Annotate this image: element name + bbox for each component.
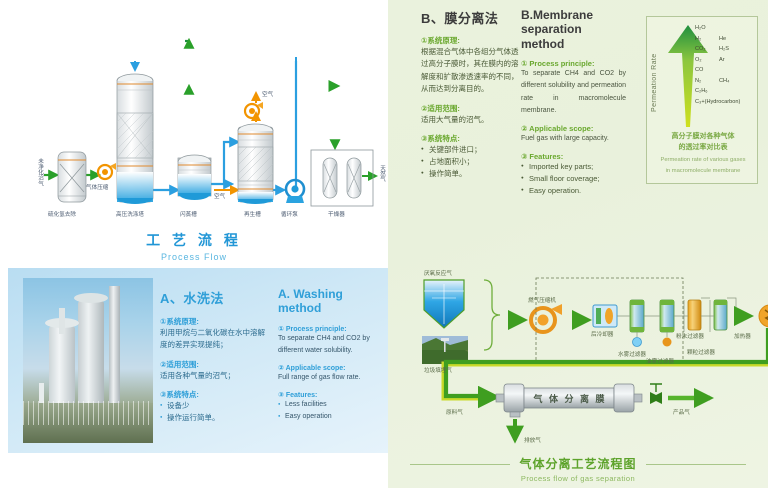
washing-s2-title-cn: ②适用范围: [160, 359, 268, 370]
label-powder-filter: 粉末过滤器 [676, 332, 704, 340]
label-natural-gas: 天然气 [378, 165, 386, 182]
membrane-s2-title-cn: ②适用范围: [421, 103, 519, 114]
label-product-gas: 产品气 [673, 408, 690, 416]
gas-name: N₂ [695, 78, 701, 84]
plant-photo [23, 278, 153, 443]
washing-s3-item: 操作运行简单。 [160, 412, 268, 424]
washing-s3-title-en: ③ Features: [278, 391, 384, 399]
label-h2s-removal: 硫化氢去除 [48, 210, 76, 218]
photo-fence [23, 401, 153, 425]
washing-s2-body-cn: 适用各种气量的沼气； [160, 370, 268, 382]
washing-s2-title-en: ② Applicable scope: [278, 364, 384, 372]
label-vent-gas: 排放气 [524, 436, 541, 444]
washing-s3-item-en: Less facilities [278, 399, 384, 411]
membrane-s3-title-en: ③ Features: [521, 152, 626, 161]
permeation-rate-box: Permeation Rate H₂O H₂He CO₂H₂S O₂Ar CO … [646, 16, 758, 184]
label-regen-tank: 再生槽 [244, 210, 261, 218]
gas-separation-svg [388, 258, 768, 458]
membrane-s1-body-cn: 根据混合气体中各组分气体透过高分子膜时，其在膜内的溶解度和扩散渗透速率的不同，从… [421, 46, 519, 96]
washing-s3-item: 设备少 [160, 400, 268, 412]
membrane-s3-item-cn: 占地面积小； [421, 156, 519, 168]
label-gas-compressor: 燃气压缩机 [528, 296, 556, 304]
label-feed-gas: 原料气 [446, 408, 463, 416]
label-air-inlet: 空气 [214, 192, 225, 200]
washing-chinese-block: A、水洗法 ①系统原理: 利用甲烷与二氧化碳在水中溶解度的差异实现提纯； ②适用… [160, 288, 268, 424]
membrane-s3-item-cn: 关键部件进口； [421, 144, 519, 156]
membrane-s1-title-cn: ①系统原理: [421, 35, 519, 46]
membrane-s1-body-en: To separate CH4 and CO2 by different sol… [521, 68, 626, 117]
permeation-caption: 高分子膜对各种气体 的透过率对比表 Permeation rate of var… [647, 132, 759, 176]
membrane-s2-title-en: ② Applicable scope: [521, 124, 626, 133]
left-column: 未净化沼气 硫化氢去除 气体压缩 高压洗涤塔 闪蒸槽 空气 空气 再生槽 循环泵… [0, 0, 388, 488]
gas-row: C₂H₆ [695, 88, 757, 99]
membrane-s3-item-en: Easy operation. [521, 185, 626, 197]
process-flow-title-en: Process Flow [0, 252, 388, 262]
gas-row: CO₂H₂S [695, 46, 757, 57]
gas-separation-title-cn: 气体分离工艺流程图 [388, 455, 768, 472]
washing-english-block: A. Washing method ① Process principle: T… [278, 288, 384, 423]
label-raw-gas: 未净化沼气 [36, 158, 44, 186]
gas-row: N₂CH₄ [695, 78, 757, 89]
washing-s2-body-en: Full range of gas flow rate. [278, 372, 384, 384]
gas-name: O₂ [695, 57, 702, 63]
label-gas-compression: 气体压缩 [86, 183, 108, 191]
washing-s1-body-cn: 利用甲烷与二氧化碳在水中溶解度的差异实现提纯； [160, 327, 268, 352]
label-particle-filter: 颗粒过滤器 [687, 348, 715, 356]
membrane-s3-item-en: Small floor coverage; [521, 173, 626, 185]
gas-row: O₂Ar [695, 57, 757, 68]
membrane-s1-title-en: ① Process principle: [521, 59, 626, 68]
permeation-caption-cn-2: 的透过率对比表 [647, 143, 759, 154]
gas-name: CO₂ [695, 46, 706, 52]
permeation-axis-label: Permeation Rate [651, 35, 665, 130]
process-flow-diagram: 未净化沼气 硫化氢去除 气体压缩 高压洗涤塔 闪蒸槽 空气 空气 再生槽 循环泵… [0, 0, 388, 268]
washing-s1-title-en: ① Process principle: [278, 325, 384, 333]
membrane-s3-title-cn: ③系统特点: [421, 133, 519, 144]
label-landfill-gas: 垃圾填埋气 [424, 366, 452, 374]
poster-page: 未净化沼气 硫化氢去除 气体压缩 高压洗涤塔 闪蒸槽 空气 空气 再生槽 循环泵… [0, 0, 768, 488]
gas-name: H₂O [695, 25, 706, 31]
membrane-s2-body-cn: 适用大气量的沼气。 [421, 114, 519, 126]
process-flow-title: 工 艺 流 程 Process Flow [0, 230, 388, 262]
membrane-heading-cn: B、膜分离法 [421, 8, 519, 27]
gas-name-alt: Ar [719, 57, 725, 63]
gas-row: H₂He [695, 36, 757, 47]
gas-row: CO [695, 67, 757, 78]
photo-stack [59, 308, 65, 334]
label-after-cooler: 后冷却器 [591, 330, 613, 338]
label-flash-tank: 闪蒸槽 [180, 210, 197, 218]
washing-heading-cn: A、水洗法 [160, 288, 268, 307]
washing-s3-item-en: Easy operation [278, 411, 384, 423]
label-water-mist-filter: 水雾过滤器 [618, 350, 646, 358]
gas-row: C₃+(Hydrocarbon) [695, 99, 757, 110]
label-oil-mist-filter: 油雾过滤器 [646, 357, 674, 365]
membrane-s3-item-en: Imported key parts; [521, 161, 626, 173]
gas-name: H₂ [695, 36, 701, 42]
label-anaerobic-gas: 厌氧反应气 [424, 269, 452, 277]
washing-s1-body-en: To separate CH4 and CO2 by different wat… [278, 333, 384, 358]
gas-separation-title-en: Process flow of gas separation [388, 474, 768, 483]
washing-s3-title-cn: ③系统特点: [160, 389, 268, 400]
washing-s1-title-cn: ①系统原理: [160, 316, 268, 327]
label-circulation-pump: 循环泵 [281, 210, 298, 218]
membrane-english-block: B.Membrane separation method ① Process p… [521, 8, 626, 197]
gas-name-alt: H₂S [719, 46, 729, 52]
gas-name: C₂H₆ [695, 88, 708, 94]
process-flow-title-cn: 工 艺 流 程 [0, 230, 388, 250]
photo-cap-2 [74, 293, 108, 303]
process-flow-svg [0, 0, 388, 235]
washing-heading-en: A. Washing method [278, 288, 384, 316]
gas-name: CO [695, 67, 703, 73]
right-column: B、膜分离法 ①系统原理: 根据混合气体中各组分气体透过高分子膜时，其在膜内的溶… [388, 0, 768, 488]
membrane-chinese-block: B、膜分离法 ①系统原理: 根据混合气体中各组分气体透过高分子膜时，其在膜内的溶… [421, 8, 519, 180]
label-membrane-unit: 气 体 分 离 膜 [529, 392, 611, 405]
label-dryer: 干燥器 [328, 210, 345, 218]
membrane-s2-body-en: Fuel gas with large capacity. [521, 133, 626, 145]
membrane-s3-item-cn: 操作简单。 [421, 168, 519, 180]
gas-separation-diagram: 厌氧反应气 垃圾填埋气 燃气压缩机 后冷却器 水雾过滤器 油雾过滤器 粉末过滤器… [388, 258, 768, 488]
label-hp-scrubber: 高压洗涤塔 [116, 210, 144, 218]
gas-separation-title: 气体分离工艺流程图 Process flow of gas separation [388, 455, 768, 483]
permeation-caption-en-2: in macromolecule membrane [647, 167, 759, 175]
label-air-outlet: 空气 [262, 90, 273, 98]
gas-list: H₂O H₂He CO₂H₂S O₂Ar CO N₂CH₄ C₂H₆ C₃+(H… [695, 25, 757, 109]
gas-name-alt: He [719, 36, 726, 42]
permeation-caption-en-1: Permeation rate of various gases [647, 156, 759, 164]
gas-row: H₂O [695, 25, 757, 36]
gas-name: C₃+(Hydrocarbon) [695, 99, 740, 105]
label-heater: 加热器 [734, 332, 751, 340]
gas-name-alt: CH₄ [719, 78, 729, 84]
membrane-heading-en: B.Membrane separation method [521, 8, 626, 51]
permeation-caption-cn-1: 高分子膜对各种气体 [647, 132, 759, 143]
